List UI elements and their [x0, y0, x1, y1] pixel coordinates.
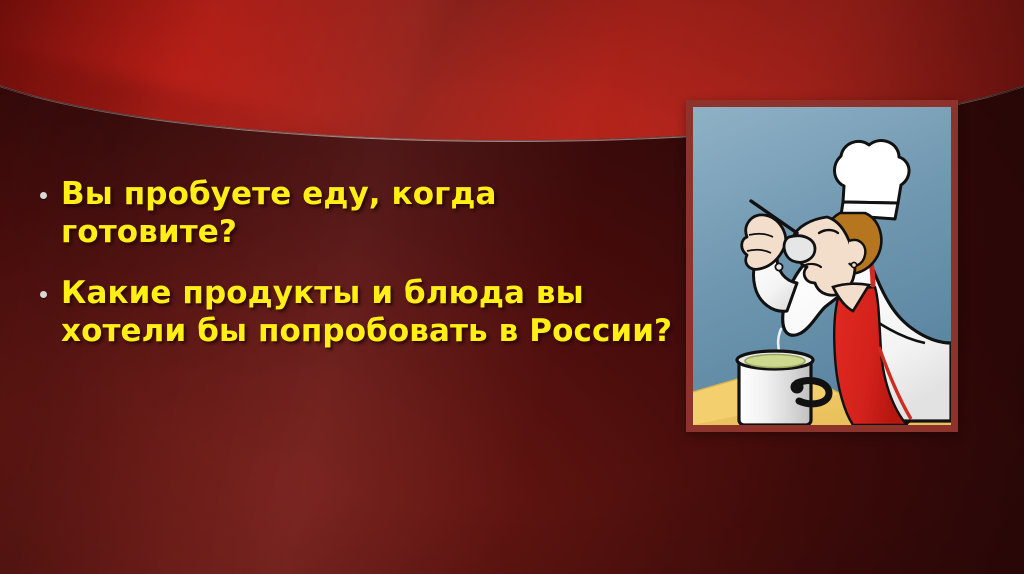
bullet-text-question-1: Вы пробуете еду, когда готовите?: [61, 176, 674, 251]
bullet-list: Вы пробуете еду, когда готовите? Какие п…: [34, 176, 674, 374]
presentation-slide: Вы пробуете еду, когда готовите? Какие п…: [0, 0, 1024, 574]
chef-illustration-frame: [686, 100, 958, 432]
chef-illustration-svg: [693, 107, 951, 425]
list-item: Какие продукты и блюда вы хотели бы попр…: [34, 275, 674, 350]
bullet-dot-icon: [40, 192, 47, 199]
chef-ear: [849, 240, 865, 266]
chef-ear-stud: [851, 262, 856, 267]
chef-illustration: [693, 107, 951, 425]
bullet-dot-icon: [40, 291, 47, 298]
pot-soup: [745, 355, 805, 368]
bullet-text-question-2: Какие продукты и блюда вы хотели бы попр…: [61, 275, 674, 350]
chef-hat: [835, 141, 910, 203]
list-item: Вы пробуете еду, когда готовите?: [34, 176, 674, 251]
sleeve-button: [775, 263, 782, 270]
spoon-bowl: [784, 236, 815, 263]
